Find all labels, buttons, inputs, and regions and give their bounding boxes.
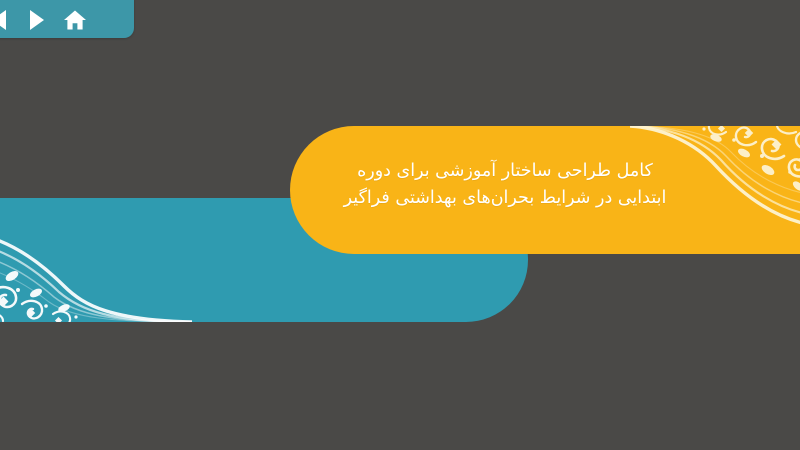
teal-arabesque-ornament	[0, 198, 192, 322]
presentation-slide: کامل طراحی ساختار آموزشی برای دوره ابتدا…	[0, 0, 800, 450]
back-icon[interactable]	[0, 7, 12, 33]
title-line-1: کامل طراحی ساختار آموزشی برای دوره	[300, 158, 710, 185]
title-line-2: ابتدایی در شرایط بحران‌های بهداشتی فراگی…	[300, 185, 710, 212]
forward-icon[interactable]	[24, 7, 50, 33]
slide-title: کامل طراحی ساختار آموزشی برای دوره ابتدا…	[300, 158, 710, 212]
home-icon[interactable]	[62, 7, 88, 33]
navigation-bar	[0, 0, 134, 38]
